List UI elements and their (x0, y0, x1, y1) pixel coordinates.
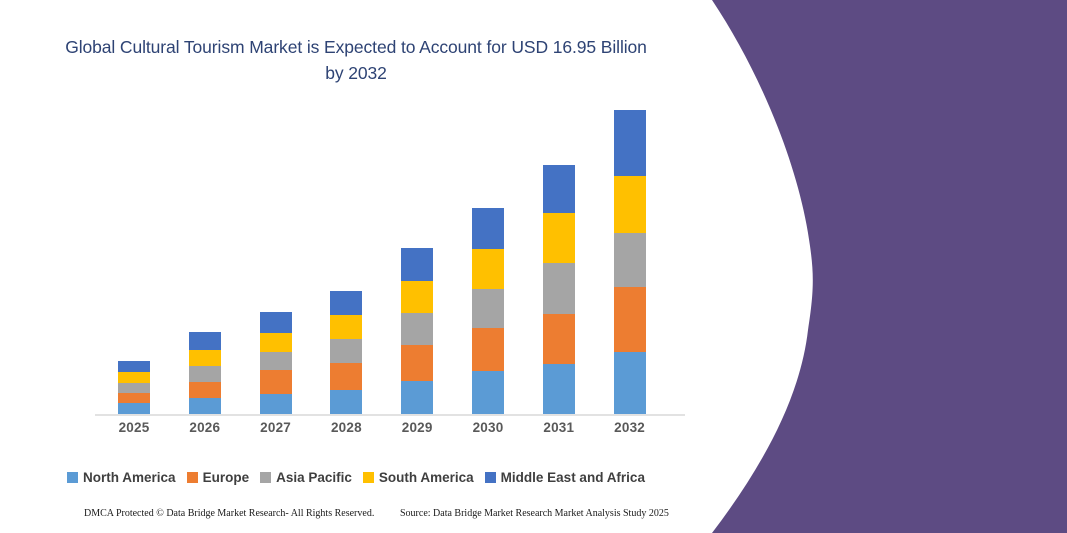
bar-segment-middle-east-and-africa (543, 165, 575, 213)
bar-segment-europe (189, 382, 221, 398)
bar-segment-north-america (260, 394, 292, 416)
bar-segment-south-america (189, 350, 221, 366)
bar-segment-europe (260, 370, 292, 394)
footer-copyright: DMCA Protected © Data Bridge Market Rese… (84, 508, 374, 519)
x-axis-label-2025: 2025 (104, 420, 164, 435)
x-axis-labels: 20252026202720282029203020312032 (95, 420, 685, 442)
legend-label: Europe (203, 470, 250, 485)
chart-legend: North AmericaEuropeAsia PacificSouth Ame… (0, 470, 712, 485)
bar-segment-europe (543, 314, 575, 364)
x-axis-label-2026: 2026 (175, 420, 235, 435)
legend-item-north-america[interactable]: North America (67, 470, 176, 485)
bar-segment-middle-east-and-africa (614, 110, 646, 176)
bar-segment-south-america (260, 333, 292, 352)
legend-item-south-america[interactable]: South America (363, 470, 474, 485)
bar-segment-north-america (330, 390, 362, 416)
bar-segment-north-america (472, 371, 504, 416)
bar-segment-europe (401, 345, 433, 381)
bar-column-2025 (118, 361, 150, 416)
bar-segment-north-america (401, 381, 433, 416)
bar-segment-middle-east-and-africa (330, 291, 362, 314)
legend-swatch (260, 472, 271, 483)
bar-column-2028 (330, 291, 362, 416)
legend-swatch (67, 472, 78, 483)
bar-column-2031 (543, 165, 575, 416)
brand-panel: Global Cultural Tourism Market, By Regio… (690, 0, 1067, 533)
bar-segment-middle-east-and-africa (472, 208, 504, 249)
bar-segment-south-america (472, 249, 504, 288)
x-axis-label-2029: 2029 (387, 420, 447, 435)
bar-segment-asia-pacific (543, 263, 575, 313)
bar-segment-middle-east-and-africa (189, 332, 221, 350)
x-axis-label-2032: 2032 (600, 420, 660, 435)
bar-column-2032 (614, 110, 646, 416)
bar-segment-north-america (543, 364, 575, 416)
bar-segment-europe (472, 328, 504, 371)
bar-segment-south-america (614, 176, 646, 233)
bar-segment-asia-pacific (472, 289, 504, 328)
bar-segment-asia-pacific (330, 339, 362, 363)
bar-chart-plot-area (95, 110, 685, 416)
legend-item-middle-east-and-africa[interactable]: Middle East and Africa (485, 470, 645, 485)
x-axis-label-2030: 2030 (458, 420, 518, 435)
bar-segment-asia-pacific (614, 233, 646, 288)
legend-item-europe[interactable]: Europe (187, 470, 250, 485)
legend-label: North America (83, 470, 176, 485)
legend-swatch (363, 472, 374, 483)
bar-column-2026 (189, 332, 221, 416)
bar-segment-europe (330, 363, 362, 390)
bar-segment-asia-pacific (118, 383, 150, 393)
bar-segment-south-america (401, 281, 433, 313)
legend-label: Asia Pacific (276, 470, 352, 485)
bar-segment-europe (118, 393, 150, 403)
chart-panel: Global Cultural Tourism Market is Expect… (0, 0, 712, 533)
purple-chevron-background (690, 0, 1067, 533)
legend-swatch (485, 472, 496, 483)
x-axis-label-2031: 2031 (529, 420, 589, 435)
legend-swatch (187, 472, 198, 483)
bar-column-2027 (260, 312, 292, 416)
bar-segment-south-america (543, 213, 575, 263)
bar-segment-asia-pacific (260, 352, 292, 370)
bar-segment-south-america (330, 315, 362, 339)
footer-source: Source: Data Bridge Market Research Mark… (400, 508, 669, 519)
legend-label: Middle East and Africa (501, 470, 645, 485)
x-axis-label-2027: 2027 (246, 420, 306, 435)
bar-segment-middle-east-and-africa (260, 312, 292, 333)
legend-item-asia-pacific[interactable]: Asia Pacific (260, 470, 352, 485)
bar-segment-asia-pacific (189, 366, 221, 382)
legend-label: South America (379, 470, 474, 485)
bar-segment-europe (614, 287, 646, 351)
chart-title: Global Cultural Tourism Market is Expect… (56, 34, 656, 86)
bar-column-2030 (472, 208, 504, 416)
bar-segment-middle-east-and-africa (118, 361, 150, 372)
bar-segment-middle-east-and-africa (401, 248, 433, 281)
bar-column-2029 (401, 248, 433, 416)
x-axis-line (95, 414, 685, 416)
bar-segment-north-america (614, 352, 646, 416)
bar-segment-asia-pacific (401, 313, 433, 345)
x-axis-label-2028: 2028 (316, 420, 376, 435)
bar-segment-south-america (118, 372, 150, 383)
infographic-root: Global Cultural Tourism Market is Expect… (0, 0, 1067, 533)
